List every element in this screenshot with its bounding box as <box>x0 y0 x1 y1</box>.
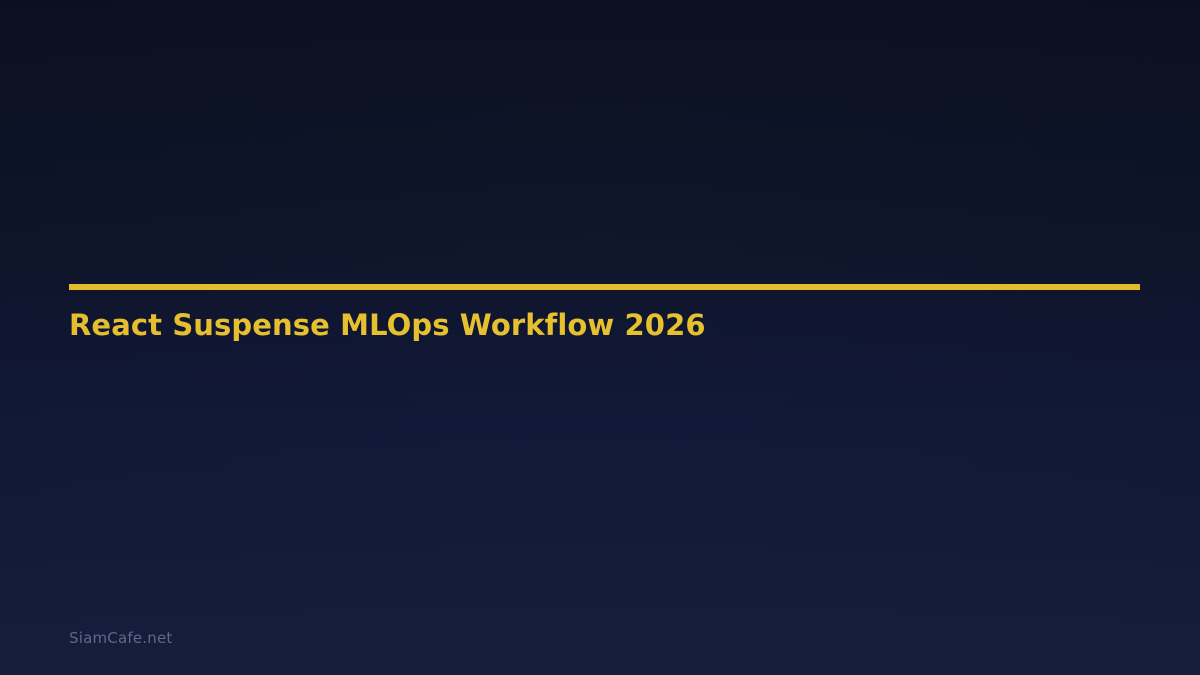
title-block: React Suspense MLOps Workflow 2026 <box>69 284 1140 343</box>
page-title: React Suspense MLOps Workflow 2026 <box>69 290 1140 343</box>
footer-branding: SiamCafe.net <box>69 629 172 649</box>
presentation-slide: React Suspense MLOps Workflow 2026 SiamC… <box>0 0 1200 675</box>
